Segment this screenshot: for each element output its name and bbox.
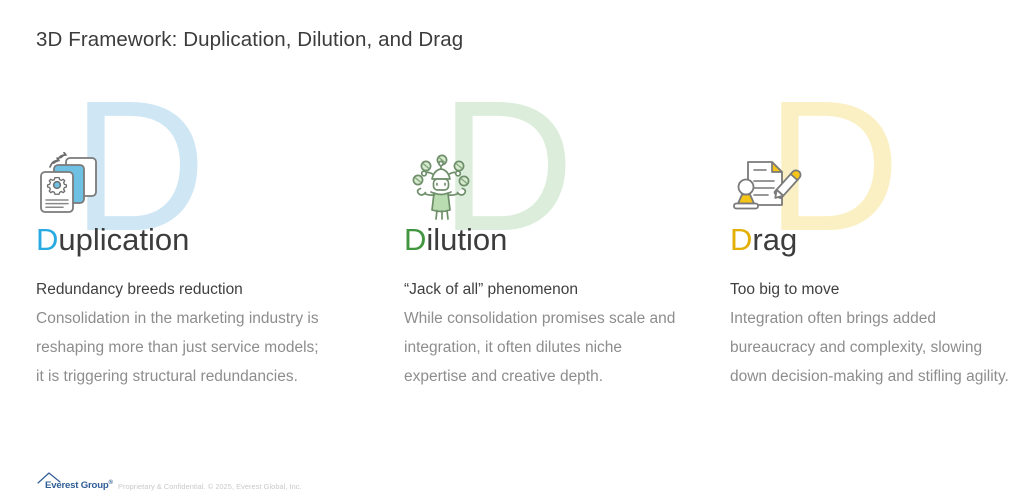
framework-column-drag: D <box>730 112 1024 452</box>
heading-rest: ilution <box>426 222 507 257</box>
heading-lead-letter: D <box>36 222 58 257</box>
heading-rest: rag <box>752 222 797 257</box>
column-subtitle: Too big to move <box>730 275 1012 304</box>
column-description: Integration often brings added bureaucra… <box>730 305 1012 392</box>
column-heading-duplication: Duplication <box>36 224 189 255</box>
document-stamp-pencil-icon <box>730 152 808 224</box>
slide-footer: Everest Group® Proprietary & Confidentia… <box>36 470 302 492</box>
column-body-drag: Too big to move Integration often brings… <box>730 275 1012 392</box>
heading-rest: uplication <box>58 222 189 257</box>
column-heading-drag: Drag <box>730 224 797 255</box>
slide-canvas: 3D Framework: Duplication, Dilution, and… <box>0 0 1024 502</box>
column-subtitle: “Jack of all” phenomenon <box>404 275 676 304</box>
page-title: 3D Framework: Duplication, Dilution, and… <box>36 28 463 52</box>
logo-wordmark: Everest Group® <box>45 480 113 491</box>
column-body-dilution: “Jack of all” phenomenon While consolida… <box>404 275 676 392</box>
copyright-note: Proprietary & Confidential. © 2025, Ever… <box>118 483 302 492</box>
everest-group-logo: Everest Group® <box>36 470 108 492</box>
framework-columns: D <box>0 112 1024 452</box>
framework-column-dilution: D <box>404 112 704 452</box>
column-description: While consolidation promises scale and i… <box>404 305 676 392</box>
registered-mark: ® <box>109 480 113 486</box>
juggler-jester-icon <box>404 152 482 224</box>
column-body-duplication: Redundancy breeds reduction Consolidatio… <box>36 275 324 392</box>
heading-lead-letter: D <box>730 222 752 257</box>
column-subtitle: Redundancy breeds reduction <box>36 275 324 304</box>
heading-lead-letter: D <box>404 222 426 257</box>
column-description: Consolidation in the marketing industry … <box>36 305 324 392</box>
duplicate-documents-gear-icon <box>36 152 114 224</box>
framework-column-duplication: D <box>36 112 336 452</box>
column-heading-dilution: Dilution <box>404 224 507 255</box>
